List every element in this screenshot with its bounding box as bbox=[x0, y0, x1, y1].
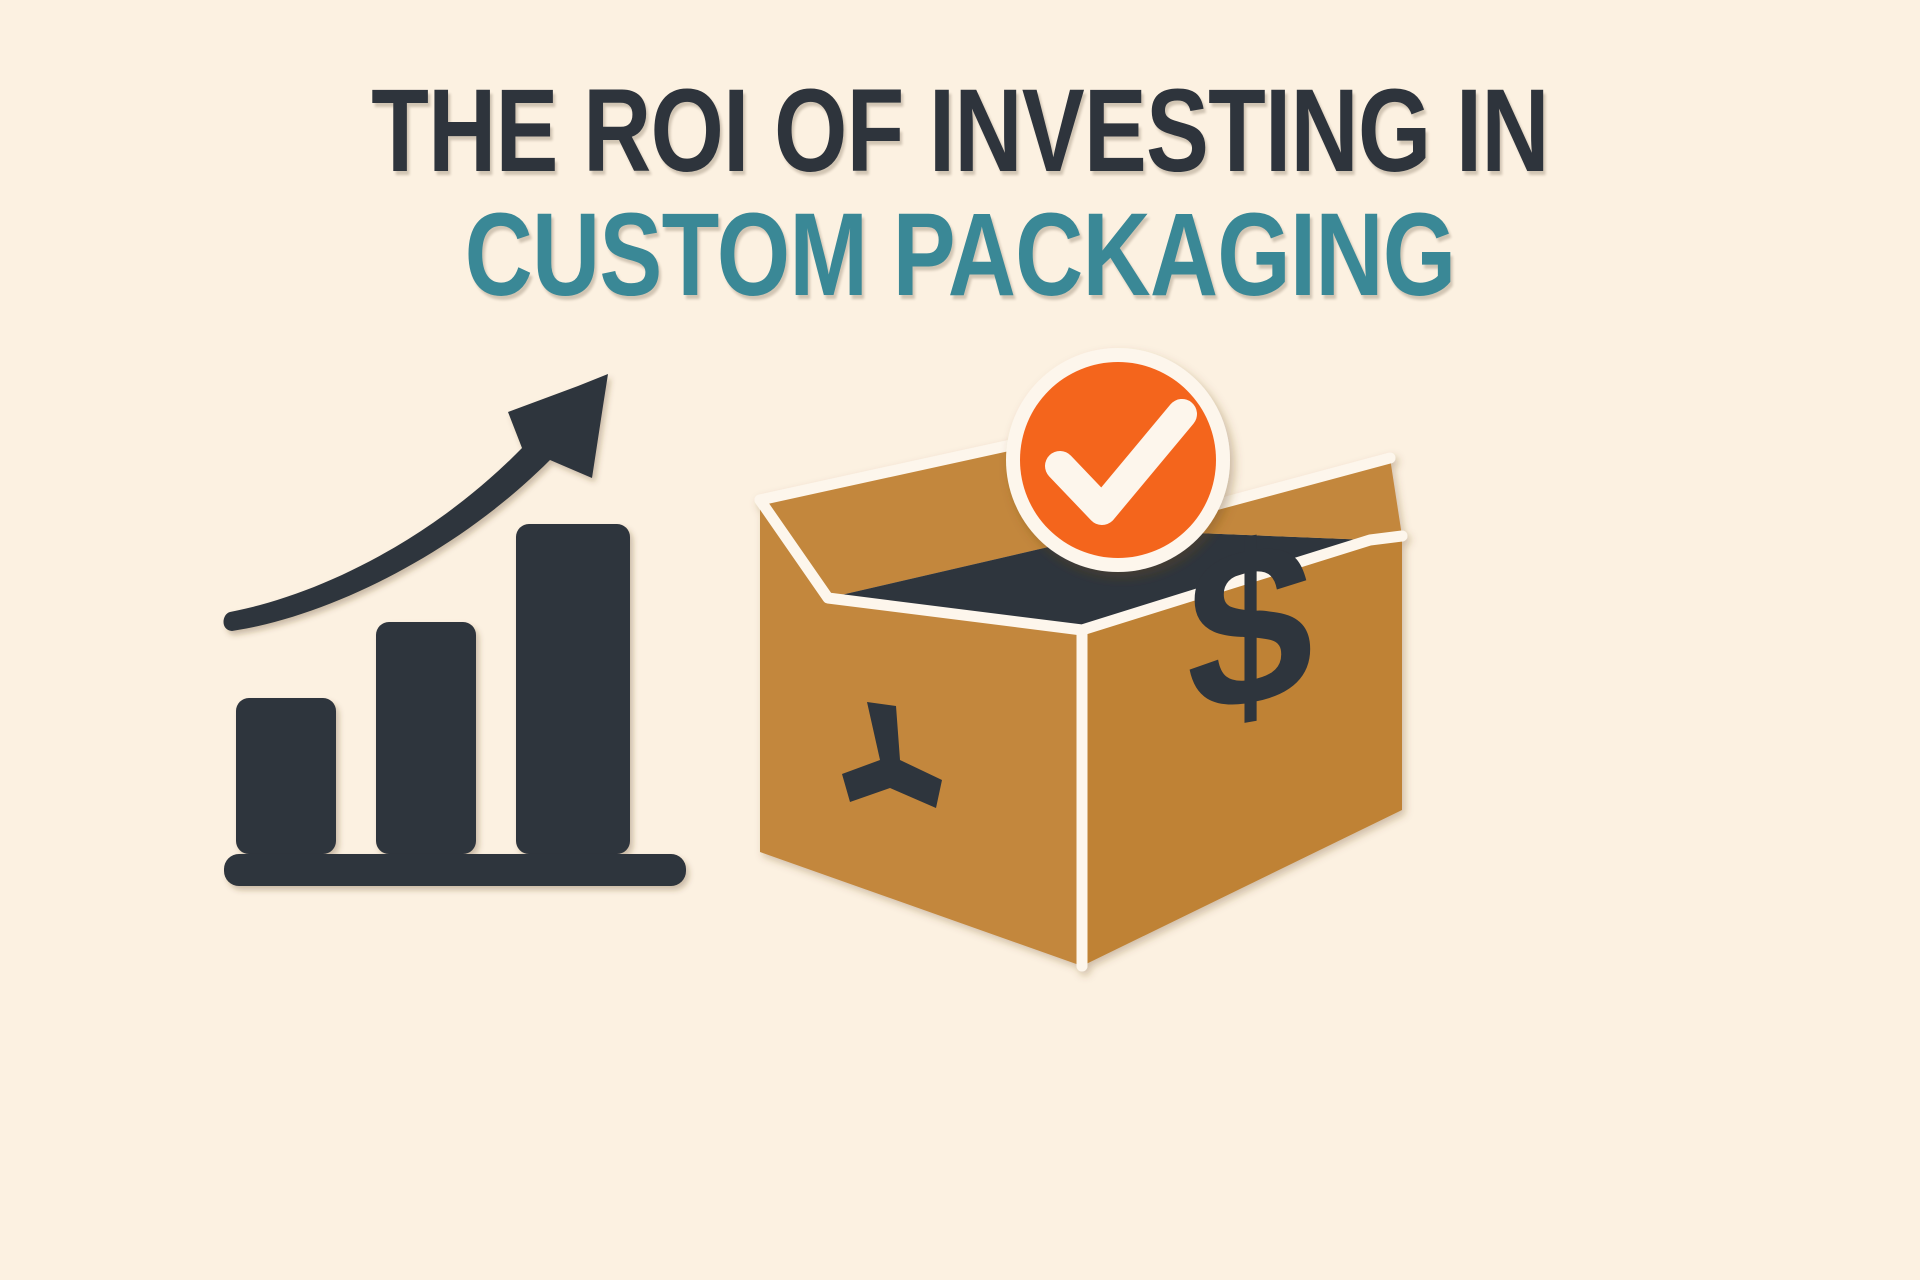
chart-bar-2 bbox=[376, 622, 476, 854]
page-title: THE ROI OF INVESTING IN CUSTOM PACKAGING bbox=[0, 74, 1920, 313]
title-line-accent: CUSTOM PACKAGING bbox=[192, 198, 1728, 314]
illustration-alt-text: growth-bar-chart-with-upward-arrow bbox=[0, 0, 1, 1]
chart-baseline bbox=[224, 854, 686, 886]
infographic-canvas: THE ROI OF INVESTING IN CUSTOM PACKAGING bbox=[0, 0, 1920, 1280]
growth-bar-chart-illustration bbox=[200, 350, 720, 910]
chart-bars bbox=[236, 524, 630, 854]
chart-bar-1 bbox=[236, 698, 336, 854]
shipping-box-illustration: $ bbox=[730, 340, 1430, 1000]
orange-check-badge bbox=[1006, 348, 1230, 572]
chart-bar-3 bbox=[516, 524, 630, 854]
title-line-primary: THE ROI OF INVESTING IN bbox=[192, 74, 1728, 190]
